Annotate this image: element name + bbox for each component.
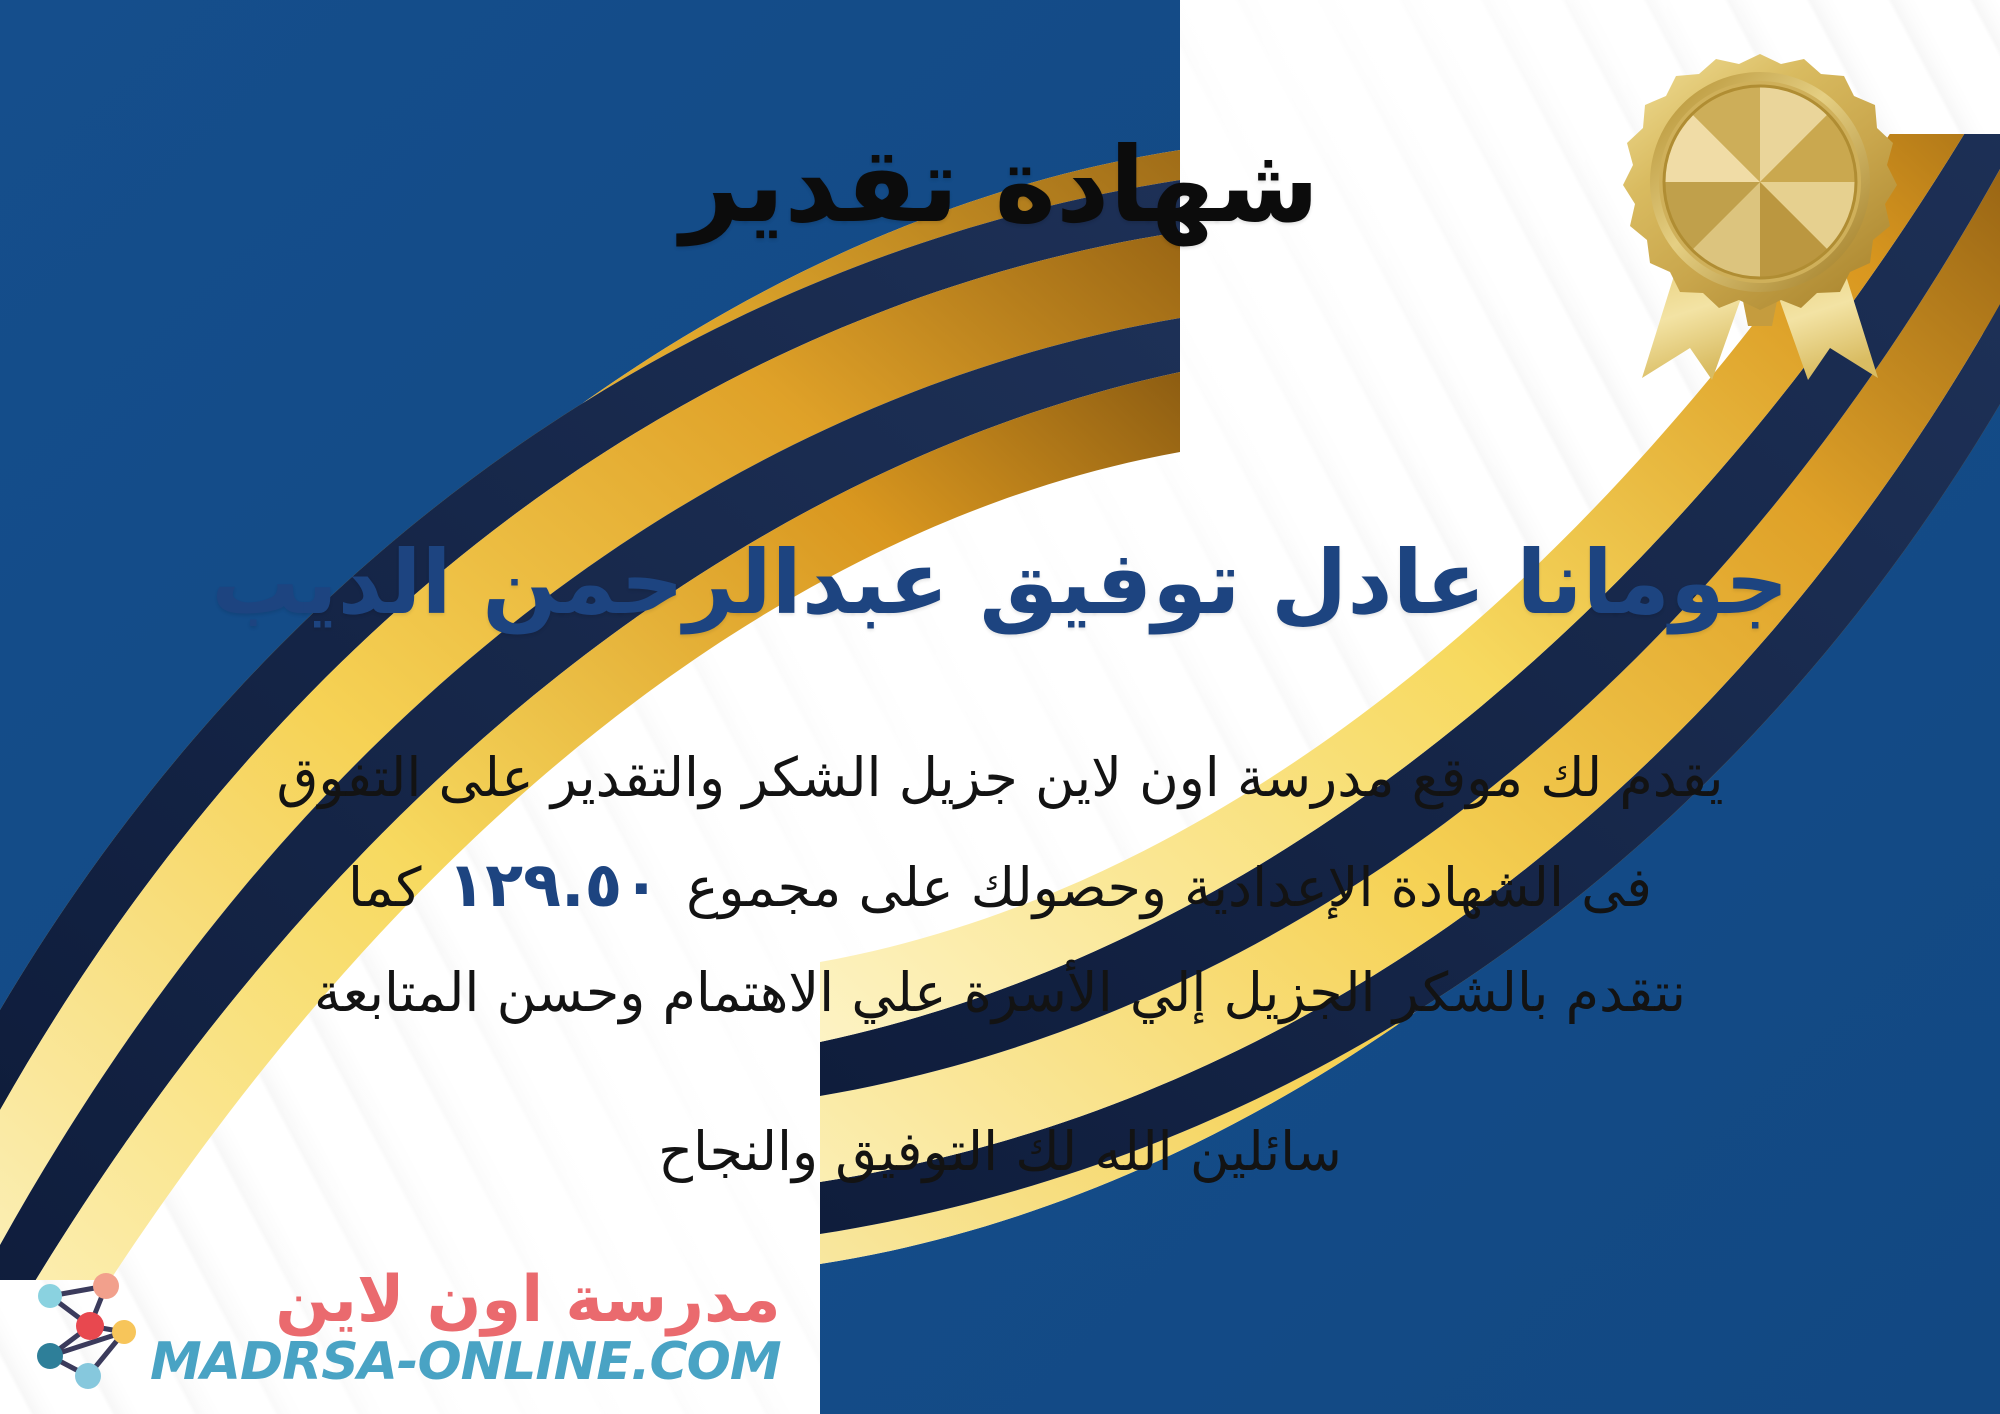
network-nodes-icon xyxy=(28,1264,140,1392)
body-line-2-prefix: فى الشهادة الإعدادية وحصولك على مجموع xyxy=(686,856,1652,919)
logo-website-url[interactable]: MADRSA-ONLINE.COM xyxy=(150,1336,781,1388)
medal-metallic-face xyxy=(1664,86,1856,278)
certificate-body-text: يقدم لك موقع مدرسة اون لاين جزيل الشكر و… xyxy=(60,728,1940,1042)
body-line-2-suffix: كما xyxy=(348,856,421,919)
recipient-name: جومانا عادل توفيق عبدالرحمن الديب xyxy=(0,532,2000,633)
logo-text-block: مدرسة اون لاين MADRSA-ONLINE.COM xyxy=(150,1268,781,1388)
body-line-1: يقدم لك موقع مدرسة اون لاين جزيل الشكر و… xyxy=(60,728,1940,828)
body-line-3: نتقدم بالشكر الجزيل إلي الأسرة علي الاهت… xyxy=(60,943,1940,1043)
body-line-2: فى الشهادة الإعدادية وحصولك على مجموع١٢٩… xyxy=(60,828,1940,943)
grade-total-value: ١٢٩.٥٠ xyxy=(421,848,686,921)
closing-wish-line: سائلين الله لك التوفيق والنجاح xyxy=(0,1120,2000,1183)
logo-arabic-name: مدرسة اون لاين xyxy=(275,1268,780,1332)
madrsa-online-logo[interactable]: مدرسة اون لاين MADRSA-ONLINE.COM xyxy=(28,1264,781,1392)
gold-award-rosette-icon xyxy=(1600,48,1920,388)
certificate-canvas: شهادة تقدير جومانا عادل توفيق عبدالرحمن … xyxy=(0,0,2000,1414)
